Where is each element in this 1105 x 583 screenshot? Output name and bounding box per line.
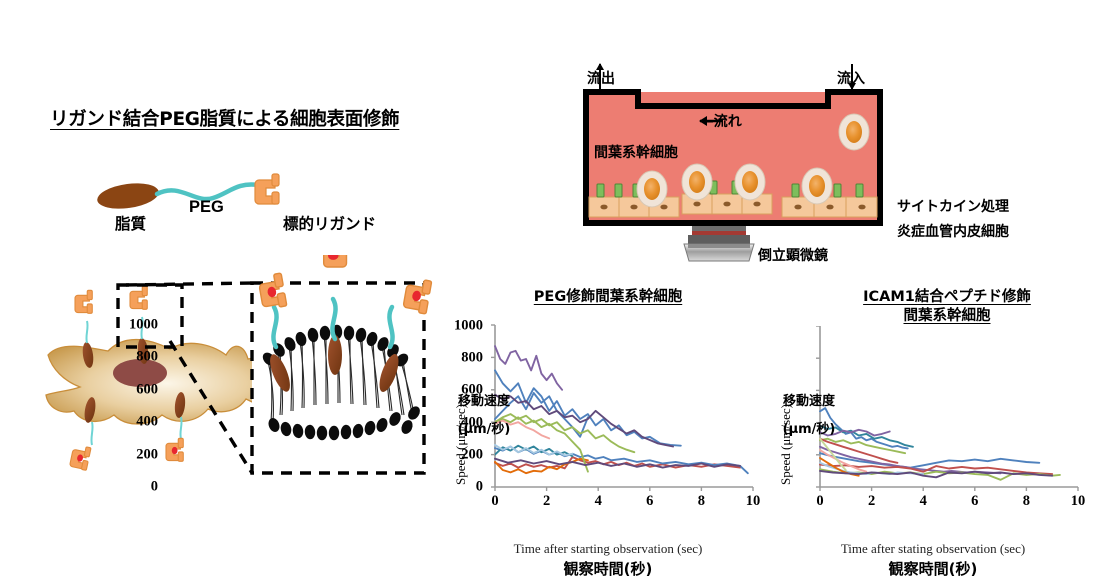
xtick-8: 8 [1023,493,1030,510]
chart-right-xlabel-en: Time after stating observation (sec) [768,541,1098,557]
inflow-label: 流入 [837,68,865,88]
peg-chain-icon [157,184,258,199]
page-title: リガンド結合PEG脂質による細胞表面修飾 [50,105,399,131]
cytokine-treatment-label: サイトカイン処理 [897,196,1009,216]
xtick-0: 0 [816,493,823,510]
chart-left-title: PEG修飾間葉系幹細胞 [443,288,773,307]
chamber-wall-right [877,89,883,226]
ytick-600: 600 [136,381,158,398]
series-cell-1 [495,346,562,390]
xtick-6: 6 [646,493,653,510]
ytick-0: 0 [151,479,158,496]
xtick-8: 8 [698,493,705,510]
chart-left-ylabel-jp: 移動速度 (μm/秒) [441,394,527,437]
endothelial-monolayer [589,194,877,217]
chart-left-title-line1: PEG修飾間葉系幹細胞 [534,289,682,305]
ytick-200: 200 [136,446,158,463]
ytick-800: 800 [136,349,158,366]
target-ligand-label: 標的リガンド [283,212,376,234]
ytick-1000: 1000 [129,317,158,334]
chart-left-xlabel-jp: 観察時間(秒) [443,558,773,579]
peg-label: PEG [189,198,224,217]
chart-right-title-line2: 間葉系幹細胞 [904,308,991,324]
chart-peg-msc: PEG修飾間葉系幹細胞 02004006008001000 0246810 Sp… [443,288,773,573]
inverted-microscope-icon [684,226,754,261]
series-cell-8 [495,447,748,474]
lipid-ellipse-icon [96,180,161,212]
chart-icam1-msc: ICAM1結合ペプチド修飾 間葉系幹細胞 02004006008001000 0… [768,288,1098,573]
chamber-wall-left [583,89,589,226]
ytick-1000: 1000 [454,318,483,335]
chart-right-xlabel-jp: 観察時間(秒) [768,558,1098,579]
chart-right-ylabel-jp: 移動速度 (μm/秒) [766,394,852,437]
cell-surface-modification-diagram [30,255,450,540]
chart-left-xlabel-en: Time after starting observation (sec) [443,541,773,557]
chart-left-plot: 02004006008001000 0246810 Speed (μm/sec)… [443,307,773,537]
inflamed-endothelium-label: 炎症血管内皮細胞 [897,221,1009,241]
xtick-2: 2 [543,493,550,510]
chart-right-title: ICAM1結合ペプチド修飾 間葉系幹細胞 [768,288,1098,326]
ytick-0: 0 [476,479,483,496]
xtick-0: 0 [491,493,498,510]
ytick-400: 400 [136,414,158,431]
chart-right-plot: 02004006008001000 0246810 Speed (μm/sec)… [768,326,1098,537]
microscope-label: 倒立顕微鏡 [758,245,828,265]
xtick-10: 10 [746,493,761,510]
outflow-label: 流出 [587,68,615,88]
lipid-label: 脂質 [115,212,146,234]
xtick-10: 10 [1071,493,1086,510]
flow-direction-label: ←流れ [702,111,742,131]
xtick-2: 2 [868,493,875,510]
msc-label: 間葉系幹細胞 [594,142,678,162]
xtick-4: 4 [595,493,602,510]
xtick-4: 4 [920,493,927,510]
ytick-800: 800 [461,350,483,367]
target-ligand-icon [255,174,279,204]
chart-right-title-line1: ICAM1結合ペプチド修飾 [863,289,1031,305]
flow-chamber-diagram: 流出 流入 ←流れ 間葉系幹細胞 倒立顕微鏡 サイトカイン処理 炎症血管内皮細胞 [560,58,1105,293]
chamber-wall-bottom [583,220,883,226]
xtick-6: 6 [971,493,978,510]
